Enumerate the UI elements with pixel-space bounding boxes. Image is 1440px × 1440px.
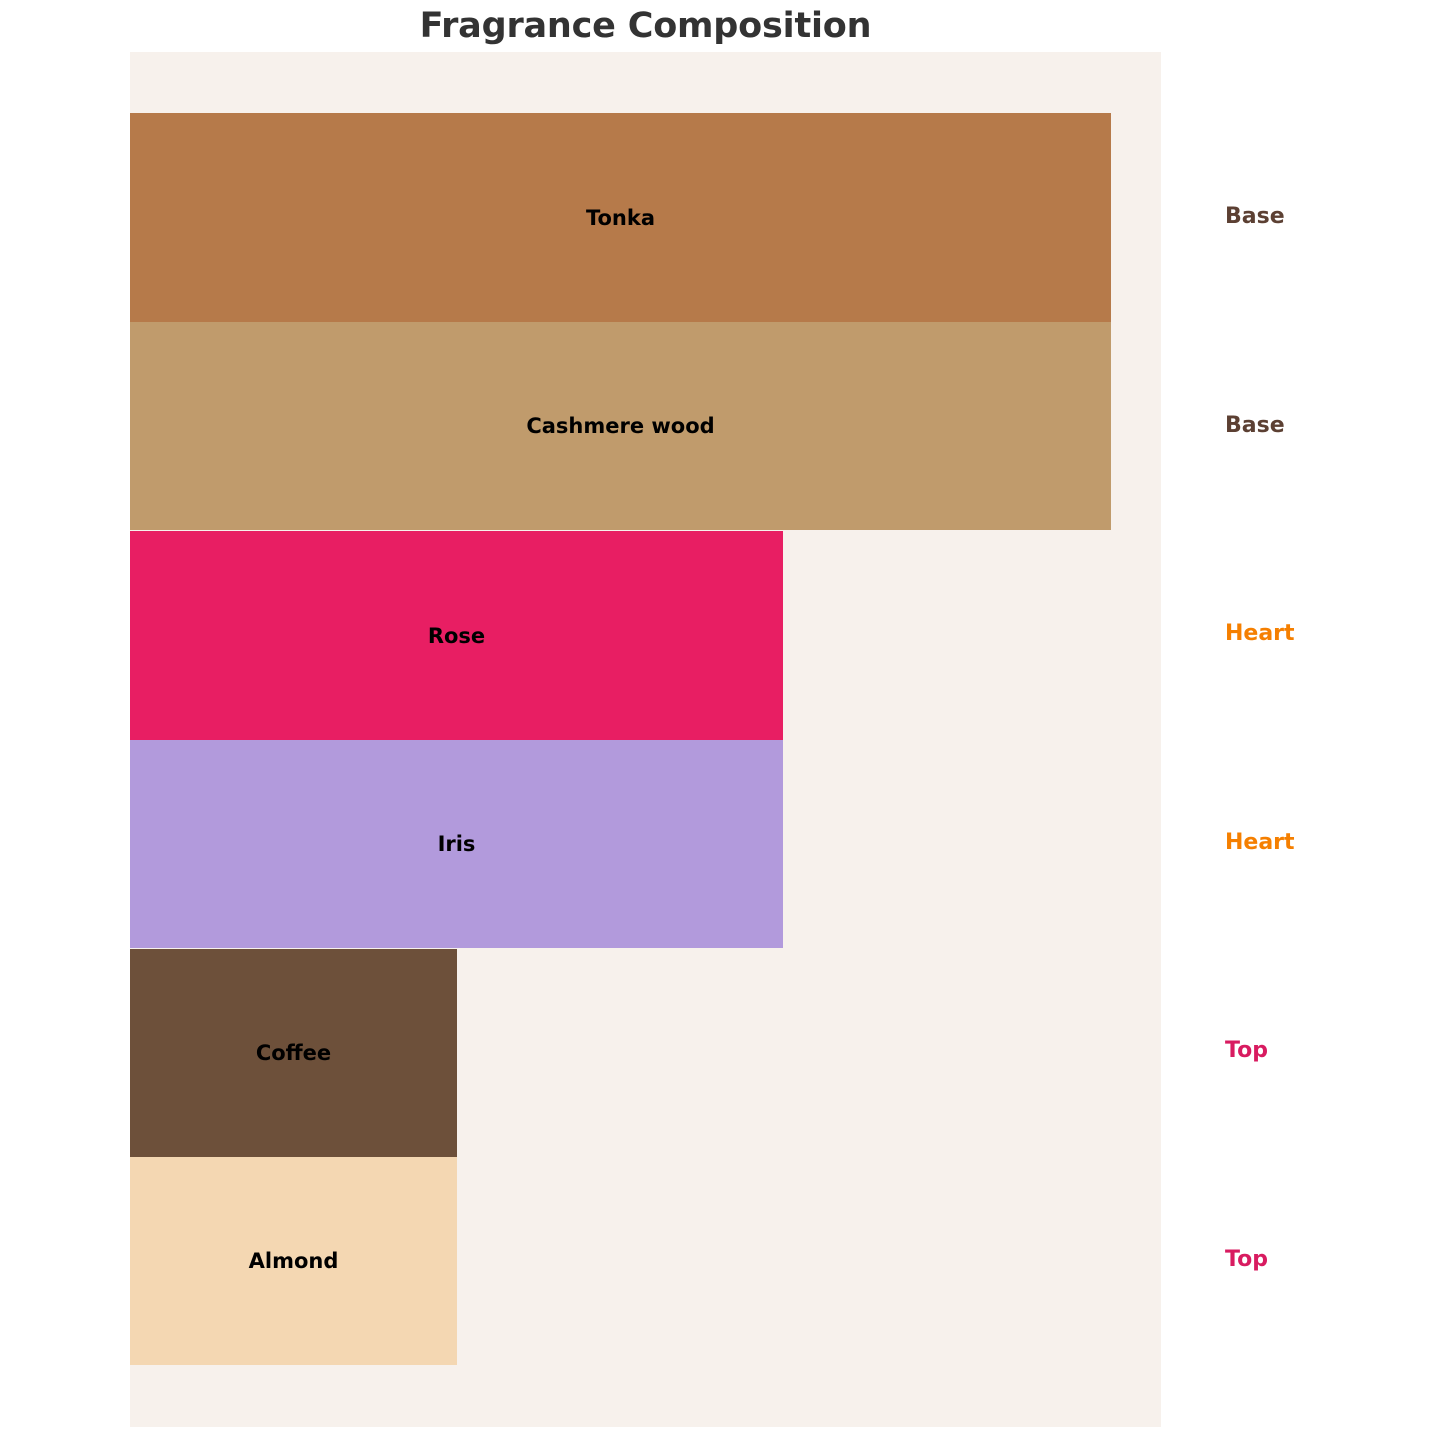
bar-tonka[interactable]: Tonka [130,113,1111,322]
bar-label-almond: Almond [249,1249,339,1273]
note-label-rose: Heart [1225,623,1295,645]
bar-iris[interactable]: Iris [130,740,783,948]
bar-coffee[interactable]: Coffee [130,949,457,1157]
note-label-tonka: Base [1225,206,1285,228]
note-label-cashmere-wood: Base [1225,415,1285,437]
chart-title: Fragrance Composition [130,4,1161,52]
plot-area: Tonka Cashmere wood Rose Iris Coffee Alm… [130,52,1161,1427]
bar-label-tonka: Tonka [586,206,655,230]
note-label-almond: Top [1225,1249,1268,1271]
fragrance-composition-figure: Fragrance Composition Tonka Cashmere woo… [0,0,1440,1440]
bar-label-iris: Iris [438,832,476,856]
bar-cashmere-wood[interactable]: Cashmere wood [130,322,1111,530]
note-label-coffee: Top [1225,1040,1268,1062]
bar-almond[interactable]: Almond [130,1157,457,1365]
note-label-iris: Heart [1225,832,1295,854]
bar-label-cashmere-wood: Cashmere wood [526,414,714,438]
bar-label-rose: Rose [428,624,485,648]
bar-label-coffee: Coffee [256,1041,331,1065]
bar-rose[interactable]: Rose [130,531,783,740]
